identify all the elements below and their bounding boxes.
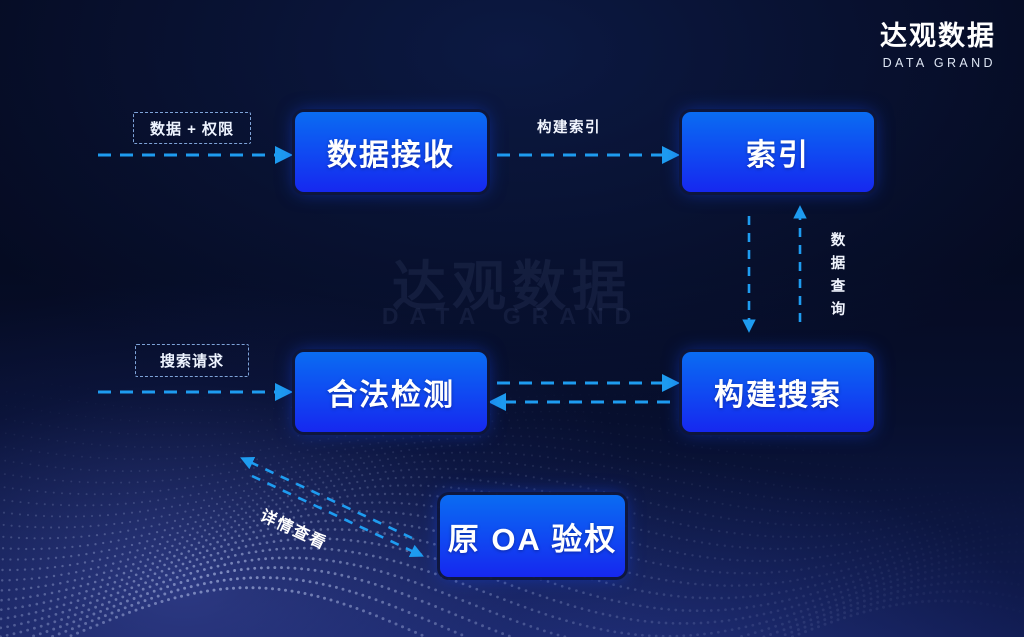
tag-search-request-label: 搜索请求 [160, 350, 224, 371]
node-original-oa-label: 原 OA 验权 [448, 514, 618, 559]
node-build-search-label: 构建搜索 [714, 370, 842, 414]
brand-logo-cn: 达观数据 [880, 22, 996, 52]
node-data-receive[interactable]: 数据接收 [295, 112, 487, 192]
node-original-oa[interactable]: 原 OA 验权 [440, 495, 625, 577]
slide-canvas: 达观数据 DATA GRAND 达观数据 DATA GRAND [0, 0, 1024, 637]
node-index-label: 索引 [746, 130, 810, 174]
edge-label-detail-view: 详情查看 [257, 502, 332, 554]
brand-logo: 达观数据 DATA GRAND [880, 22, 996, 70]
edge-label-build-index: 构建索引 [537, 116, 601, 137]
edge-label-data-query: 数据查询 [828, 230, 848, 322]
edge-label-data-query-text: 数据查询 [831, 233, 846, 318]
node-legal-check-label: 合法检测 [327, 370, 455, 414]
watermark-en: DATA GRAND [0, 303, 1024, 330]
node-data-receive-label: 数据接收 [327, 130, 455, 174]
tag-data-permission: 数据 + 权限 [133, 112, 251, 144]
tag-search-request: 搜索请求 [135, 344, 249, 377]
node-build-search[interactable]: 构建搜索 [682, 352, 874, 432]
brand-logo-en: DATA GRAND [880, 56, 996, 70]
watermark-cn: 达观数据 [0, 242, 1024, 321]
node-index[interactable]: 索引 [682, 112, 874, 192]
tag-data-permission-label: 数据 + 权限 [150, 118, 234, 139]
node-legal-check[interactable]: 合法检测 [295, 352, 487, 432]
